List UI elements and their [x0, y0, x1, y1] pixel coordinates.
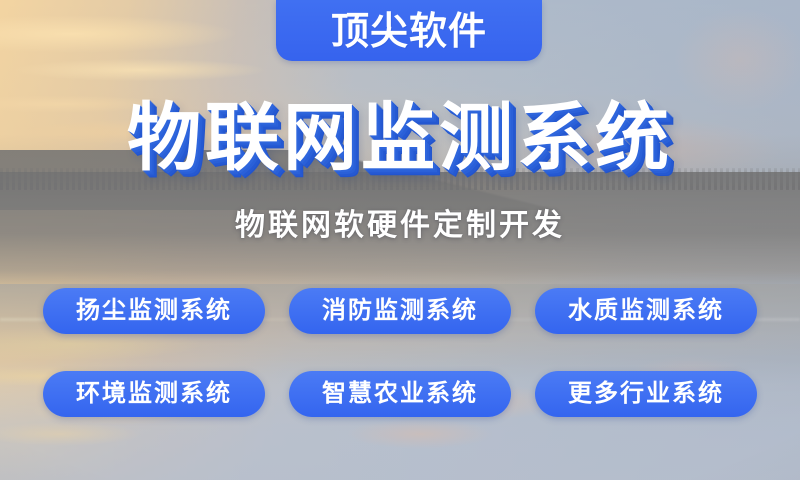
service-pill-more-industries[interactable]: 更多行业系统	[535, 371, 757, 417]
service-pill-label: 智慧农业系统	[322, 382, 478, 406]
service-pill-fire-monitoring[interactable]: 消防监测系统	[289, 288, 511, 334]
service-pill-label: 消防监测系统	[322, 299, 478, 323]
promo-banner: 顶尖软件 物联网监测系统 物联网软硬件定制开发 扬尘监测系统 消防监测系统 水质…	[0, 0, 800, 480]
service-pill-environment-monitoring[interactable]: 环境监测系统	[43, 371, 265, 417]
service-pill-row: 环境监测系统 智慧农业系统 更多行业系统	[43, 371, 757, 417]
page-subtitle: 物联网软硬件定制开发	[0, 208, 800, 244]
service-pill-label: 扬尘监测系统	[76, 299, 232, 323]
service-pill-label: 更多行业系统	[568, 382, 724, 406]
brand-badge-label: 顶尖软件	[331, 11, 487, 51]
service-pill-label: 环境监测系统	[76, 382, 232, 406]
service-pill-dust-monitoring[interactable]: 扬尘监测系统	[43, 288, 265, 334]
service-pill-water-quality-monitoring[interactable]: 水质监测系统	[535, 288, 757, 334]
service-pill-row: 扬尘监测系统 消防监测系统 水质监测系统	[43, 288, 757, 334]
page-title: 物联网监测系统	[0, 92, 800, 184]
service-pill-grid: 扬尘监测系统 消防监测系统 水质监测系统 环境监测系统 智慧农业系统 更多行业系…	[43, 288, 757, 417]
service-pill-smart-agriculture[interactable]: 智慧农业系统	[289, 371, 511, 417]
service-pill-label: 水质监测系统	[568, 299, 724, 323]
banner-content: 顶尖软件 物联网监测系统 物联网软硬件定制开发 扬尘监测系统 消防监测系统 水质…	[0, 0, 800, 480]
brand-badge[interactable]: 顶尖软件	[276, 0, 542, 61]
page-title-text: 物联网监测系统	[127, 101, 673, 175]
